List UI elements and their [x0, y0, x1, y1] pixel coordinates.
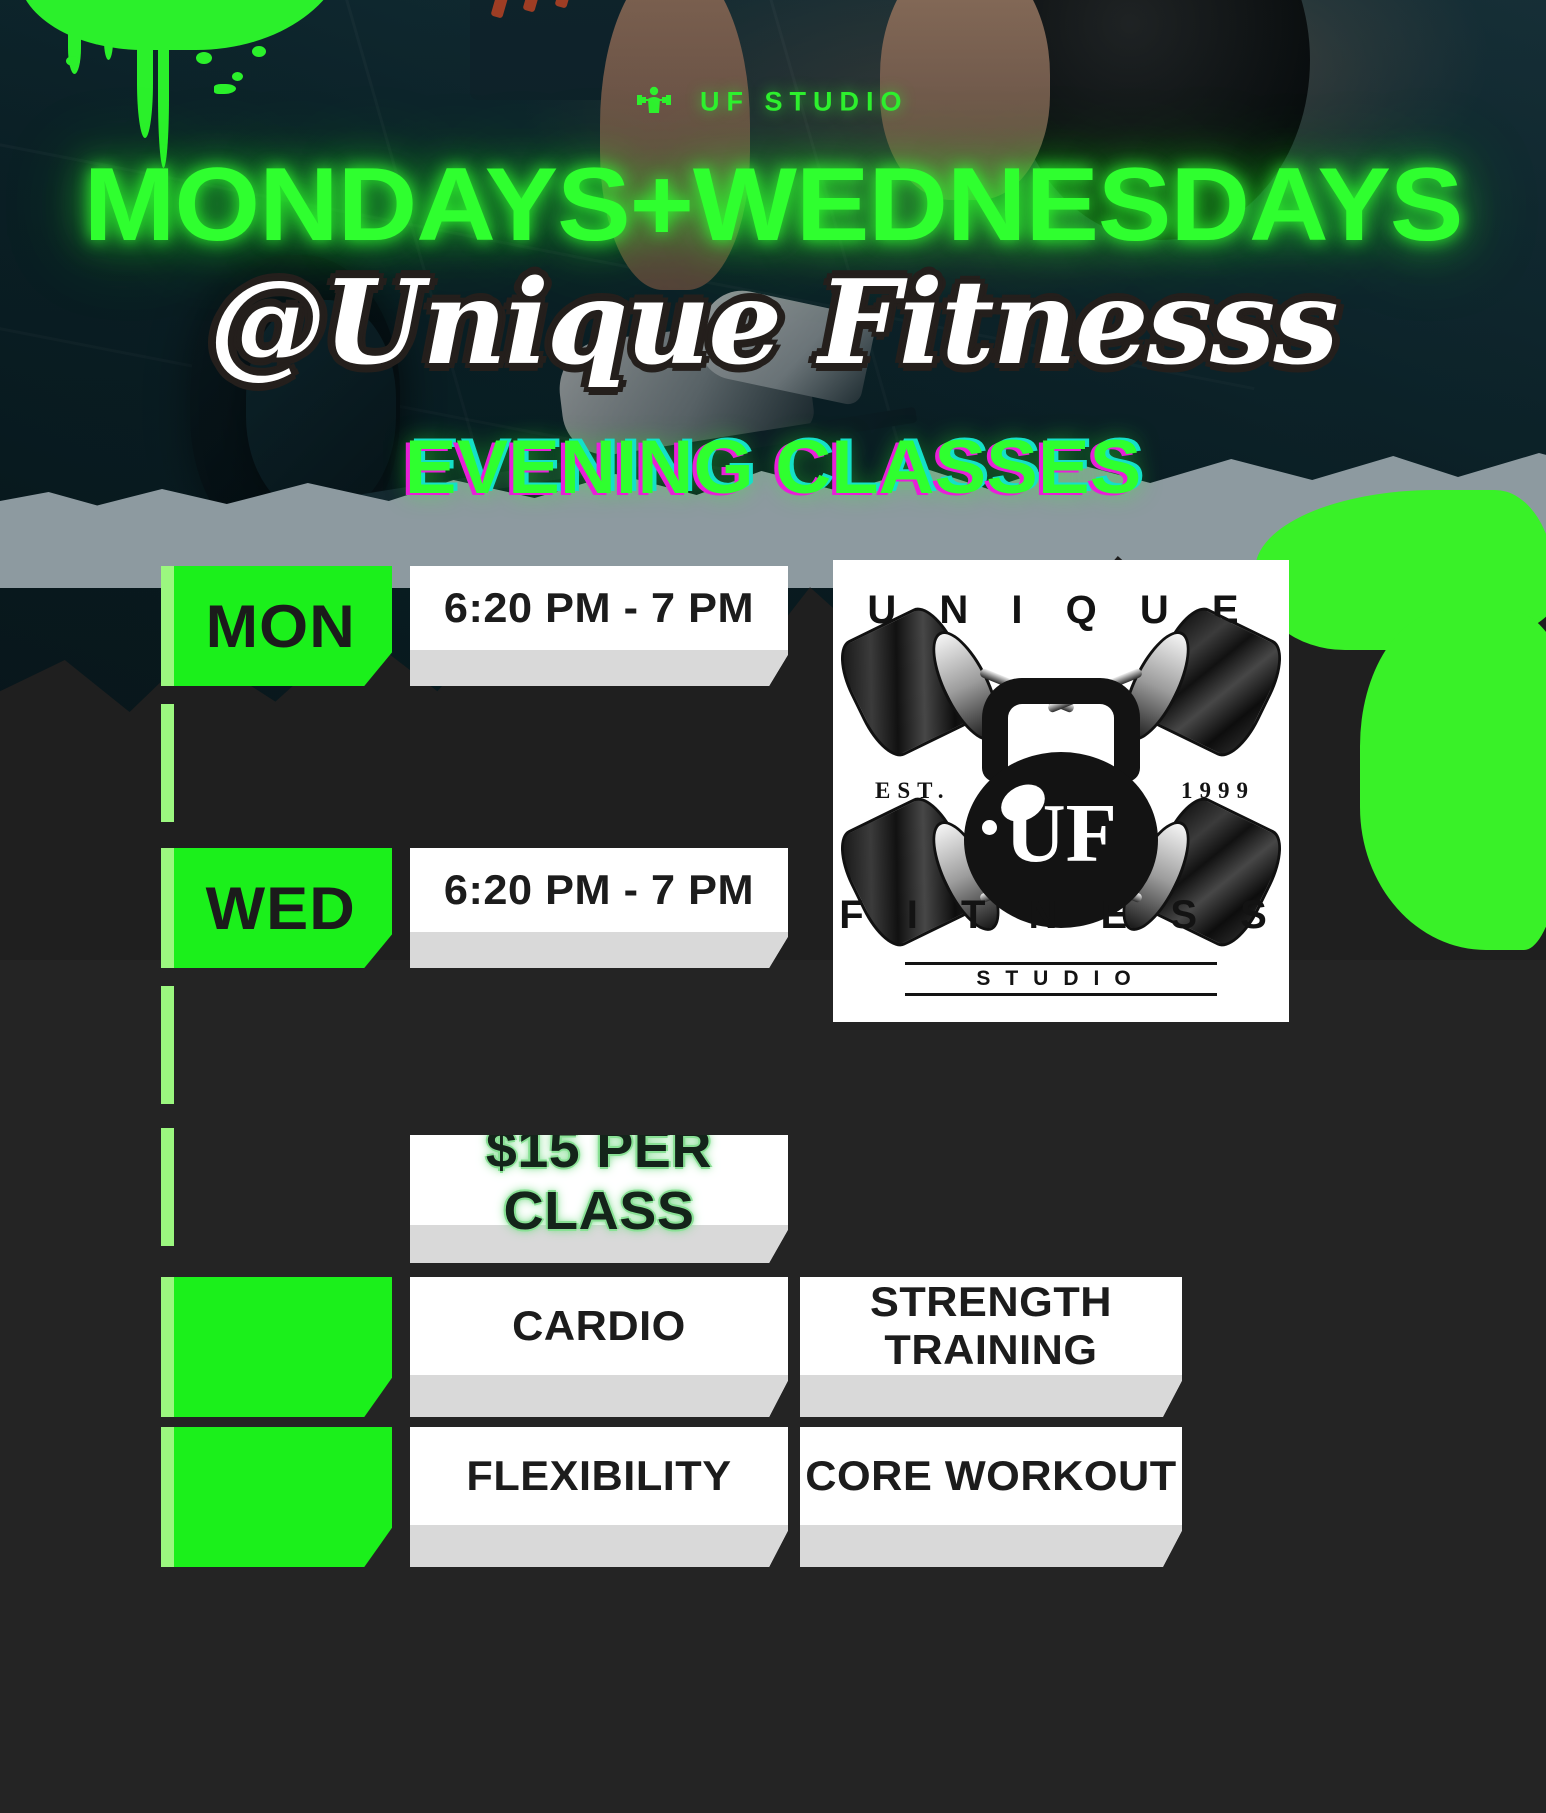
price-card-label: $15 PER CLASS: [404, 1135, 793, 1225]
class-card-strength[interactable]: STRENGTH TRAINING: [800, 1277, 1182, 1417]
class-row-tab-1[interactable]: [161, 1277, 392, 1417]
day-tab-mon[interactable]: MON: [161, 566, 392, 686]
card-under-strip: [410, 650, 788, 686]
card-under-strip: [410, 932, 788, 968]
price-card[interactable]: $15 PER CLASS: [410, 1135, 788, 1263]
schedule-grid: MON 6:20 PM - 7 PM WED 6:20 PM - 7 PM $1…: [0, 0, 1546, 1813]
tab-accent-strip: [161, 1427, 174, 1567]
class-card-flexibility-label: FLEXIBILITY: [404, 1427, 793, 1525]
tab-accent-strip: [161, 1277, 174, 1417]
class-row-tab-2[interactable]: [161, 1427, 392, 1567]
time-card-wed[interactable]: 6:20 PM - 7 PM: [410, 848, 788, 968]
flyer-canvas: UF STUDIO MONDAYS+WEDNESDAYS @Unique Fit…: [0, 0, 1546, 1813]
card-under-strip: [800, 1525, 1182, 1567]
day-tab-wed[interactable]: WED: [161, 848, 392, 968]
time-card-mon[interactable]: 6:20 PM - 7 PM: [410, 566, 788, 686]
studio-logo-panel: U N I Q U E UF: [833, 560, 1289, 1022]
class-card-cardio[interactable]: CARDIO: [410, 1277, 788, 1417]
day-tab-mon-label: MON: [155, 566, 398, 686]
kettlebell-icon: UF: [946, 678, 1176, 928]
class-card-core[interactable]: CORE WORKOUT: [800, 1427, 1182, 1567]
connector-bar-2: [161, 986, 174, 1104]
connector-bar-1: [161, 704, 174, 822]
logo-est-label: EST.: [875, 778, 951, 804]
time-card-wed-label: 6:20 PM - 7 PM: [404, 848, 793, 932]
logo-studio-bar: STUDIO: [905, 962, 1217, 996]
class-card-strength-label: STRENGTH TRAINING: [794, 1277, 1187, 1375]
class-card-cardio-label: CARDIO: [404, 1277, 793, 1375]
logo-studio-label: STUDIO: [976, 967, 1145, 991]
card-under-strip: [410, 1525, 788, 1567]
connector-bar-3: [161, 1128, 174, 1246]
logo-est-year: 1999: [1181, 778, 1255, 804]
class-card-core-label: CORE WORKOUT: [794, 1427, 1187, 1525]
logo-monogram: UF: [946, 796, 1176, 872]
logo-arc-fitness: F I T N E S S: [833, 893, 1289, 938]
class-card-flexibility[interactable]: FLEXIBILITY: [410, 1427, 788, 1567]
card-under-strip: [410, 1375, 788, 1417]
time-card-mon-label: 6:20 PM - 7 PM: [404, 566, 793, 650]
day-tab-wed-label: WED: [155, 848, 398, 968]
card-under-strip: [800, 1375, 1182, 1417]
